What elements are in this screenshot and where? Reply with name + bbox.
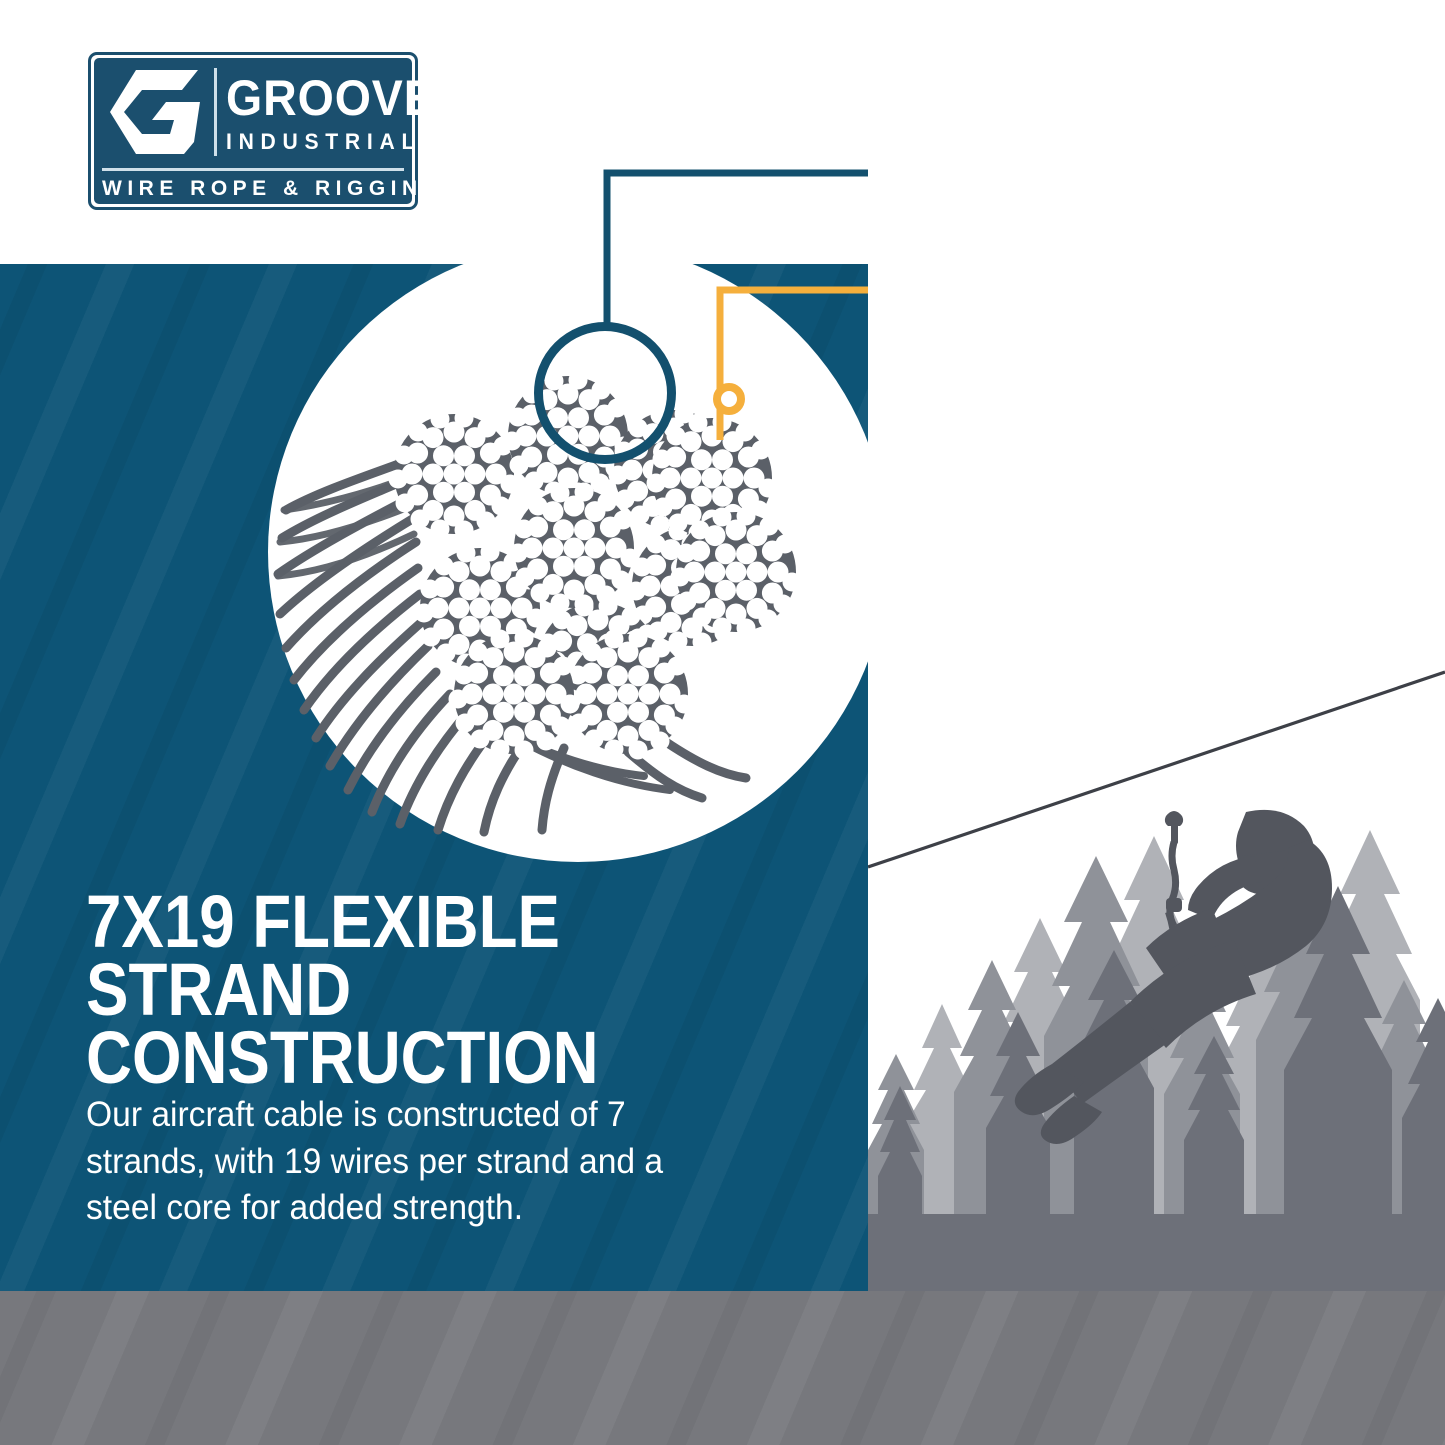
logo-subtitle: INDUSTRIAL [226,128,397,156]
logo-horizontal-rule [102,168,404,171]
logo-divider [214,68,217,156]
page-title: 7X19 FLEXIBLE STRAND CONSTRUCTION [86,888,740,1092]
bottom-bar-stripe-texture [0,1291,1445,1445]
leader-line-strands [607,173,912,325]
headline-line-2: STRAND CONSTRUCTION [86,956,740,1092]
logo-wordmark: GROOVE [226,68,392,128]
logo-top-row: GROOVE INDUSTRIAL [94,58,412,166]
body-description: Our aircraft cable is constructed of 7 s… [86,1092,720,1232]
groove-g-icon [108,68,204,156]
logo-tagline: WIRE ROPE & RIGGING [102,174,404,204]
orange-ring-marker [713,383,745,415]
logo-inner-fill: GROOVE INDUSTRIAL WIRE ROPE & RIGGING [94,58,412,204]
zipline-forest-scene [868,0,1445,1292]
brand-logo[interactable]: GROOVE INDUSTRIAL WIRE ROPE & RIGGING [88,52,418,210]
infographic-canvas: 7 STRANDS 19 WIRES PER STRAND HOT DIP GA… [0,0,1445,1445]
bottom-gray-bar [0,1291,1445,1445]
